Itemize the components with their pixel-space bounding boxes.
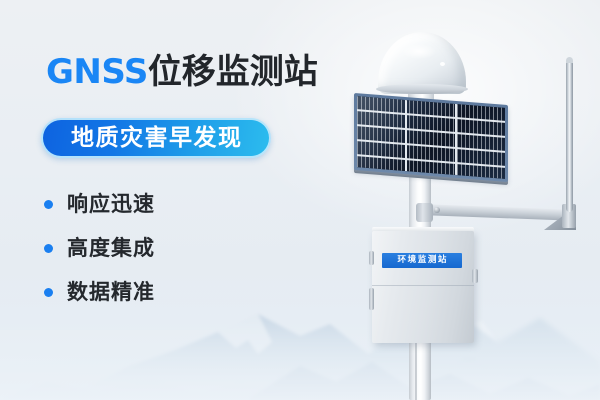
enclosure-hinge-upper <box>369 251 374 265</box>
list-item: 高度集成 <box>44 226 274 270</box>
feature-list: 响应迅速 高度集成 数据精准 <box>44 182 274 314</box>
crossarm-bolt <box>434 207 440 213</box>
bullet-dot-icon <box>44 288 53 297</box>
marketing-copy-block: GNSS位移监测站 地质灾害早发现 响应迅速 高度集成 数据精准 <box>0 0 340 400</box>
mounting-crossarm <box>426 204 574 221</box>
feature-label: 响应迅速 <box>67 194 155 215</box>
solar-panel-icon <box>354 93 508 182</box>
whip-antenna-tip <box>566 57 573 63</box>
enclosure-hinge-lower <box>369 288 374 310</box>
list-item: 响应迅速 <box>44 182 274 226</box>
gnss-monitoring-station-device: 环境监测站 <box>330 10 600 400</box>
title-brand: GNSS <box>46 52 148 92</box>
page-title: GNSS位移监测站 <box>46 55 318 89</box>
solar-panel-cells <box>357 96 505 179</box>
tagline-badge: 地质灾害早发现 <box>41 118 271 158</box>
title-rest: 位移监测站 <box>148 52 318 92</box>
whip-antenna-icon <box>566 60 573 212</box>
crossarm-pole-clamp <box>416 203 433 222</box>
equipment-enclosure <box>372 231 474 343</box>
pole-seam <box>415 340 417 400</box>
list-item: 数据精准 <box>44 270 274 314</box>
enclosure-door-seam <box>372 285 474 286</box>
dome-antenna-base-ring <box>376 84 468 94</box>
solar-panel-glare <box>357 96 505 179</box>
feature-label: 高度集成 <box>67 238 155 259</box>
bullet-dot-icon <box>44 244 53 253</box>
product-banner: 环境监测站 GNSS位移监测站 地质灾害早发现 响应迅速 高度集成 数据精准 <box>0 0 600 400</box>
enclosure-latch <box>472 269 478 283</box>
tagline-badge-label: 地质灾害早发现 <box>70 127 243 150</box>
enclosure-nameplate: 环境监测站 <box>382 253 462 268</box>
dome-highlight <box>402 44 436 59</box>
feature-label: 数据精准 <box>67 282 155 303</box>
bullet-dot-icon <box>44 200 53 209</box>
dome-specular-dot <box>440 62 445 66</box>
enclosure-nameplate-text: 环境监测站 <box>396 256 448 265</box>
